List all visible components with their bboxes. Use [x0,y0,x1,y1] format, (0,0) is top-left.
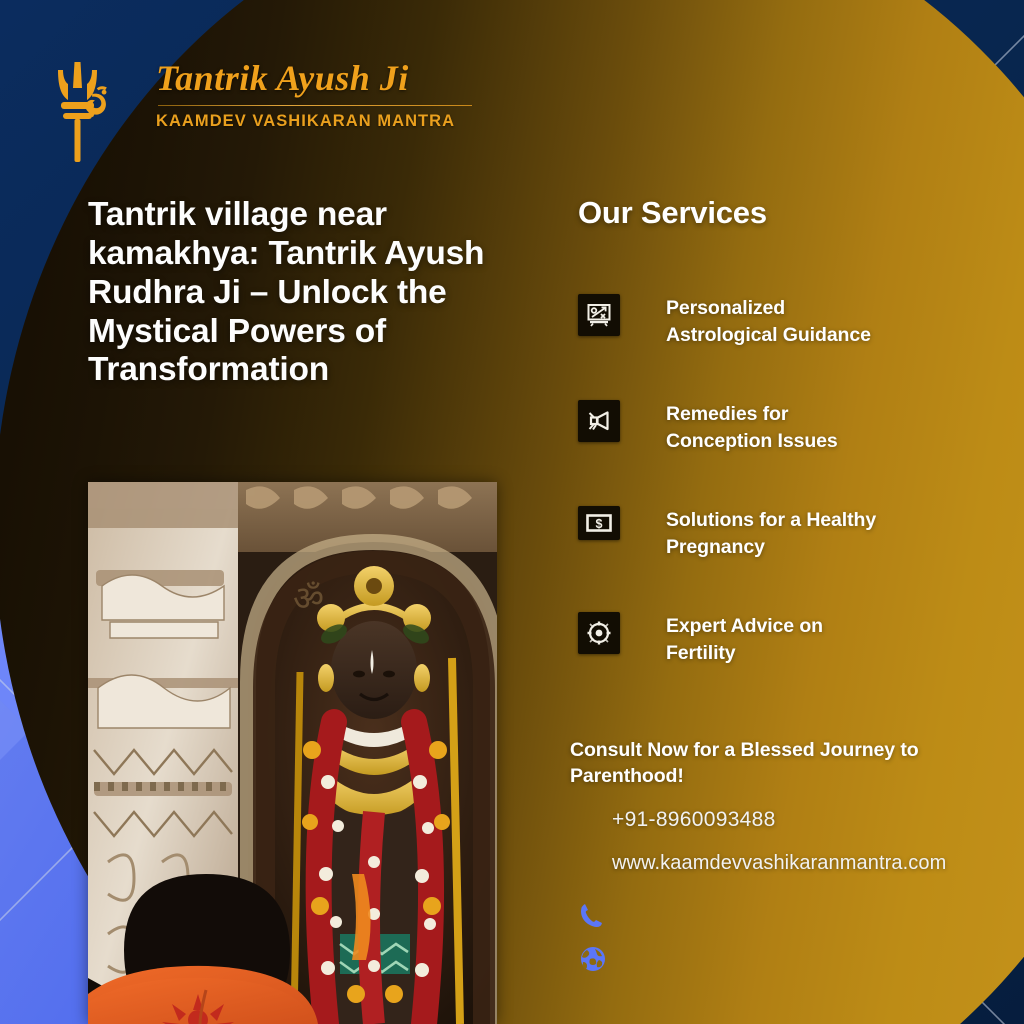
svg-text:$: $ [596,517,603,531]
service-item-astrological-guidance[interactable]: Personalized Astrological Guidance [578,294,871,348]
phone-number[interactable]: +91-8960093488 [612,808,776,832]
services-heading: Our Services [578,195,767,231]
service-label: Personalized Astrological Guidance [666,294,871,348]
temple-deity-photo: ॐ [88,482,497,1024]
money-bill-icon: $ [578,506,620,540]
globe-icon[interactable] [578,944,608,974]
service-item-healthy-pregnancy[interactable]: $ Solutions for a Healthy Pregnancy [578,506,876,560]
service-label: Expert Advice on Fertility [666,612,823,666]
service-label: Solutions for a Healthy Pregnancy [666,506,876,560]
brand-tagline: KAAMDEV VASHIKARAN MANTRA [156,112,472,131]
website-url[interactable]: www.kaamdevvashikaranmantra.com [612,852,946,875]
brand-divider [158,105,472,106]
target-icon [578,612,620,654]
phone-icon[interactable] [578,900,608,930]
strategy-board-icon [578,294,620,336]
trishul-om-icon [52,58,118,162]
page-title: Tantrik village near kamakhya: Tantrik A… [88,196,553,390]
service-item-fertility-advice[interactable]: Expert Advice on Fertility [578,612,823,666]
cta-text: Consult Now for a Blessed Journey to Par… [570,738,990,789]
brand-logo: Tantrik Ayush Ji KAAMDEV VASHIKARAN MANT… [52,58,472,162]
service-item-conception-remedies[interactable]: Remedies for Conception Issues [578,400,838,454]
brand-name: Tantrik Ayush Ji [156,60,472,98]
service-label: Remedies for Conception Issues [666,400,838,454]
megaphone-icon [578,400,620,442]
poster-canvas: Tantrik Ayush Ji KAAMDEV VASHIKARAN MANT… [0,0,1024,1024]
